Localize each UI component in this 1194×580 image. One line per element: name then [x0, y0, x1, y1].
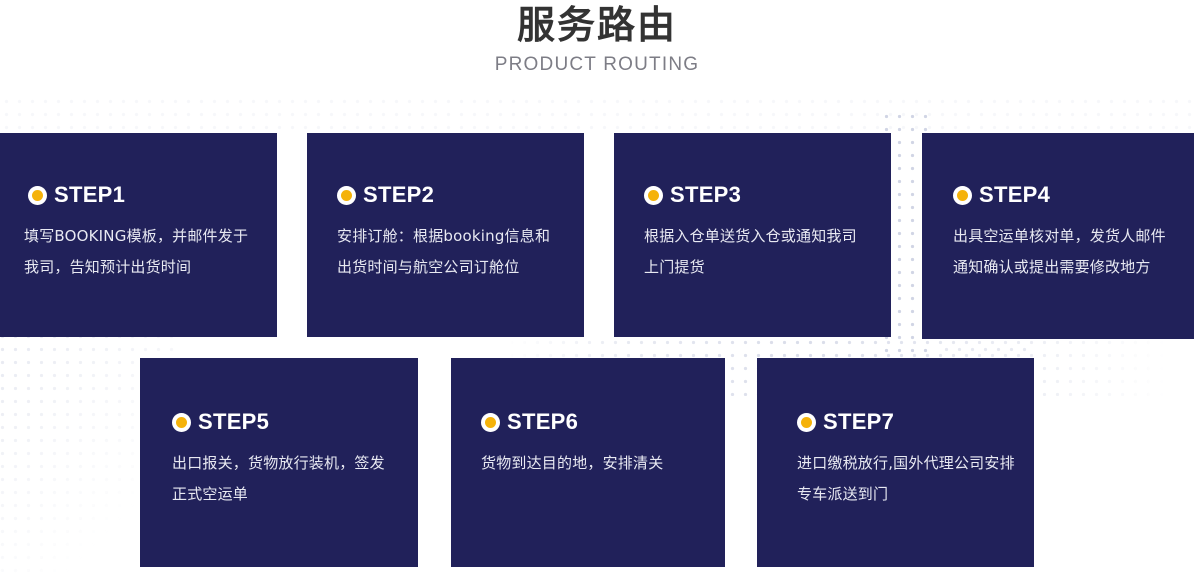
target-dot-icon — [644, 186, 663, 205]
step-card-4[interactable]: STEP4 出具空运单核对单，发货人邮件通知确认或提出需要修改地方 — [922, 133, 1194, 339]
target-dot-icon — [28, 186, 47, 205]
step-card-3-label: STEP3 — [670, 183, 741, 207]
target-dot-icon — [172, 413, 191, 432]
step-card-5-label: STEP5 — [198, 410, 269, 434]
step-card-1-description: 填写BOOKING模板，并邮件发于我司，告知预计出货时间 — [24, 221, 255, 283]
step-card-6-header: STEP6 — [481, 410, 725, 434]
target-dot-icon — [797, 413, 816, 432]
step-card-7-header: STEP7 — [797, 410, 1034, 434]
target-dot-icon — [953, 186, 972, 205]
step-card-3-description: 根据入仓单送货入仓或通知我司上门提货 — [644, 221, 871, 283]
step-card-6-description: 货物到达目的地，安排清关 — [481, 448, 705, 479]
step-card-2[interactable]: STEP2 安排订舱：根据booking信息和出货时间与航空公司订舱位 — [307, 133, 584, 337]
step-card-3-header: STEP3 — [644, 183, 891, 207]
step-card-2-description: 安排订舱：根据booking信息和出货时间与航空公司订舱位 — [337, 221, 562, 283]
target-dot-icon — [337, 186, 356, 205]
step-card-3[interactable]: STEP3 根据入仓单送货入仓或通知我司上门提货 — [614, 133, 891, 337]
step-card-1[interactable]: STEP1 填写BOOKING模板，并邮件发于我司，告知预计出货时间 — [0, 133, 277, 337]
section-header: 服务路由 PRODUCT ROUTING — [0, 0, 1194, 76]
step-card-6[interactable]: STEP6 货物到达目的地，安排清关 — [451, 358, 725, 567]
step-card-2-label: STEP2 — [363, 183, 434, 207]
step-card-2-header: STEP2 — [337, 183, 584, 207]
step-card-6-label: STEP6 — [507, 410, 578, 434]
step-card-7[interactable]: STEP7 进口缴税放行,国外代理公司安排专车派送到门 — [757, 358, 1034, 567]
step-card-1-header: STEP1 — [28, 183, 277, 207]
page-title: 服务路由 — [0, 0, 1194, 48]
page-subtitle: PRODUCT ROUTING — [0, 48, 1194, 76]
background-dot-pattern-top — [0, 95, 1194, 135]
target-dot-icon — [481, 413, 500, 432]
step-card-7-description: 进口缴税放行,国外代理公司安排专车派送到门 — [797, 448, 1016, 510]
step-card-7-label: STEP7 — [823, 410, 894, 434]
step-card-4-header: STEP4 — [953, 183, 1194, 207]
step-card-1-label: STEP1 — [54, 183, 125, 207]
step-card-5-description: 出口报关，货物放行装机，签发正式空运单 — [172, 448, 398, 510]
step-card-4-label: STEP4 — [979, 183, 1050, 207]
step-card-4-description: 出具空运单核对单，发货人邮件通知确认或提出需要修改地方 — [953, 221, 1178, 283]
step-card-5-header: STEP5 — [172, 410, 418, 434]
step-card-5[interactable]: STEP5 出口报关，货物放行装机，签发正式空运单 — [140, 358, 418, 567]
